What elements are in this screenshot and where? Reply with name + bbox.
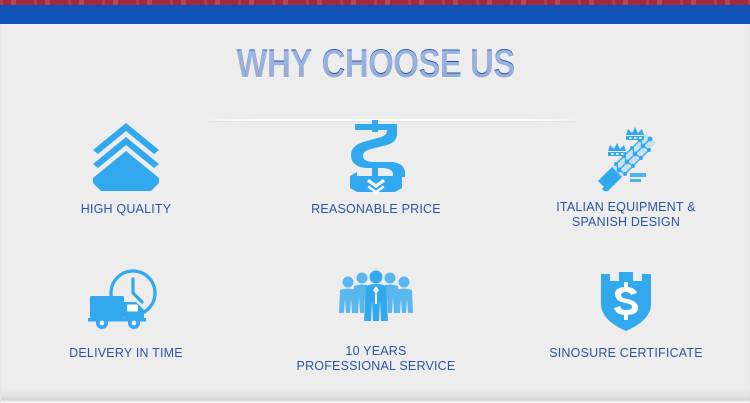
top-blue-navigation-bar xyxy=(0,5,750,24)
dollar-down-arrow-icon xyxy=(330,120,422,194)
feature-label: HIGH QUALITY xyxy=(81,202,172,217)
page-title-part-two: CHOOSE US xyxy=(322,42,515,86)
feature-label: REASONABLE PRICE xyxy=(311,202,441,217)
page-title: WHYCHOOSE US xyxy=(237,42,515,86)
feature-italian-equipment-spanish-design[interactable]: ITALIAN EQUIPMENT & SPANISH DESIGN xyxy=(501,112,750,252)
feature-sinosure-certificate[interactable]: SINOSURE CERTIFICATE xyxy=(501,252,750,392)
shield-dollar-icon xyxy=(580,264,672,338)
feature-label: 10 YEARS PROFESSIONAL SERVICE xyxy=(297,344,456,374)
truck-clock-icon xyxy=(80,264,172,338)
page-title-wrapper: WHYCHOOSE US xyxy=(1,42,750,86)
people-group-icon xyxy=(330,264,422,338)
features-grid: HIGH QUALITY xyxy=(1,112,750,392)
chevron-stack-icon xyxy=(80,120,172,194)
feature-label: ITALIAN EQUIPMENT & SPANISH DESIGN xyxy=(556,200,695,230)
feature-reasonable-price[interactable]: REASONABLE PRICE xyxy=(251,112,501,252)
feature-delivery-in-time[interactable]: DELIVERY IN TIME xyxy=(1,252,251,392)
why-choose-us-page: WHYCHOOSE US HIGH QUALITY xyxy=(0,0,750,403)
feature-label: DELIVERY IN TIME xyxy=(69,346,183,361)
feature-professional-service[interactable]: 10 YEARS PROFESSIONAL SERVICE xyxy=(251,252,501,392)
feature-high-quality[interactable]: HIGH QUALITY xyxy=(1,112,251,252)
page-title-part-one: WHY xyxy=(237,42,312,86)
design-pen-network-icon xyxy=(580,120,672,194)
feature-label: SINOSURE CERTIFICATE xyxy=(549,346,703,361)
content-panel: WHYCHOOSE US HIGH QUALITY xyxy=(0,24,750,403)
